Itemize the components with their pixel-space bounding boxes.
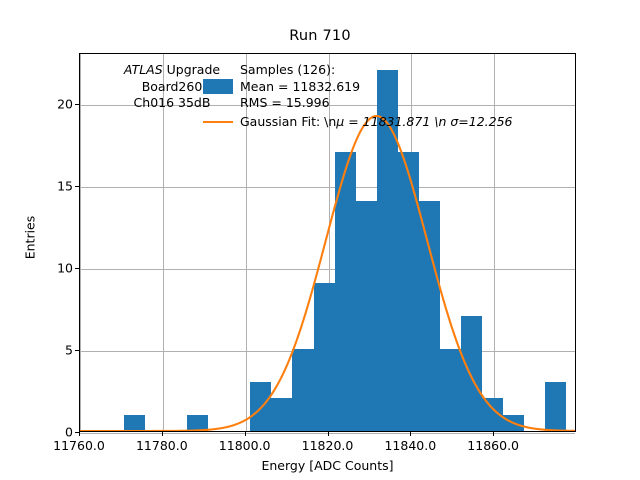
x-axis-tick-label: 11800.0 (219, 438, 271, 453)
x-axis-tick (328, 432, 329, 436)
x-axis-tick (410, 432, 411, 436)
matplotlib-figure: Run 710 11760.011780.011800.011820.01184… (0, 0, 640, 480)
line-swatch-icon (203, 121, 233, 123)
y-axis-tick (75, 268, 79, 269)
legend-samples-line2: Mean = 11832.619 (240, 79, 360, 96)
y-axis-tick-label: 5 (33, 342, 73, 357)
x-axis-tick (79, 432, 80, 436)
legend-entry-fit: Gaussian Fit: \nμ = 11831.871 \n σ=12.25… (196, 114, 513, 131)
legend-entry-samples: Samples (126): Mean = 11832.619 RMS = 15… (196, 62, 513, 112)
atlas-label: ATLAS (124, 62, 163, 77)
y-axis-tick (75, 104, 79, 105)
y-axis-tick-label: 20 (33, 96, 73, 111)
x-axis-tick-label: 11840.0 (384, 438, 436, 453)
y-axis-tick (75, 350, 79, 351)
x-axis-label: Energy [ADC Counts] (79, 458, 576, 473)
y-axis-tick (75, 186, 79, 187)
legend-fit-prefix: Gaussian Fit: \n (240, 114, 336, 129)
chart-title: Run 710 (0, 28, 640, 44)
x-axis-tick-label: 11860.0 (467, 438, 519, 453)
legend-swatch-wrap-fit (196, 121, 240, 123)
chart-legend: Samples (126): Mean = 11832.619 RMS = 15… (196, 62, 513, 133)
y-axis-tick-label: 15 (33, 178, 73, 193)
y-axis-tick (75, 432, 79, 433)
legend-label-fit: Gaussian Fit: \nμ = 11831.871 \n σ=12.25… (240, 114, 513, 131)
y-axis-tick-label: 0 (33, 425, 73, 440)
y-axis-label: Entries (23, 168, 38, 308)
legend-samples-line1: Samples (126): (240, 62, 360, 79)
x-axis-tick (162, 432, 163, 436)
x-axis-tick (245, 432, 246, 436)
legend-label-samples: Samples (126): Mean = 11832.619 RMS = 15… (240, 62, 360, 112)
x-axis-tick-label: 11820.0 (302, 438, 354, 453)
legend-samples-line3: RMS = 15.996 (240, 95, 360, 112)
x-axis-tick-label: 11780.0 (136, 438, 188, 453)
bar-swatch-icon (203, 79, 233, 94)
y-axis-tick-label: 10 (33, 260, 73, 275)
legend-swatch-wrap-samples (196, 79, 240, 94)
legend-fit-sigma: σ=12.256 (450, 114, 512, 129)
x-axis-tick (493, 432, 494, 436)
legend-fit-mu: μ = 11831.871 \n (336, 114, 450, 129)
